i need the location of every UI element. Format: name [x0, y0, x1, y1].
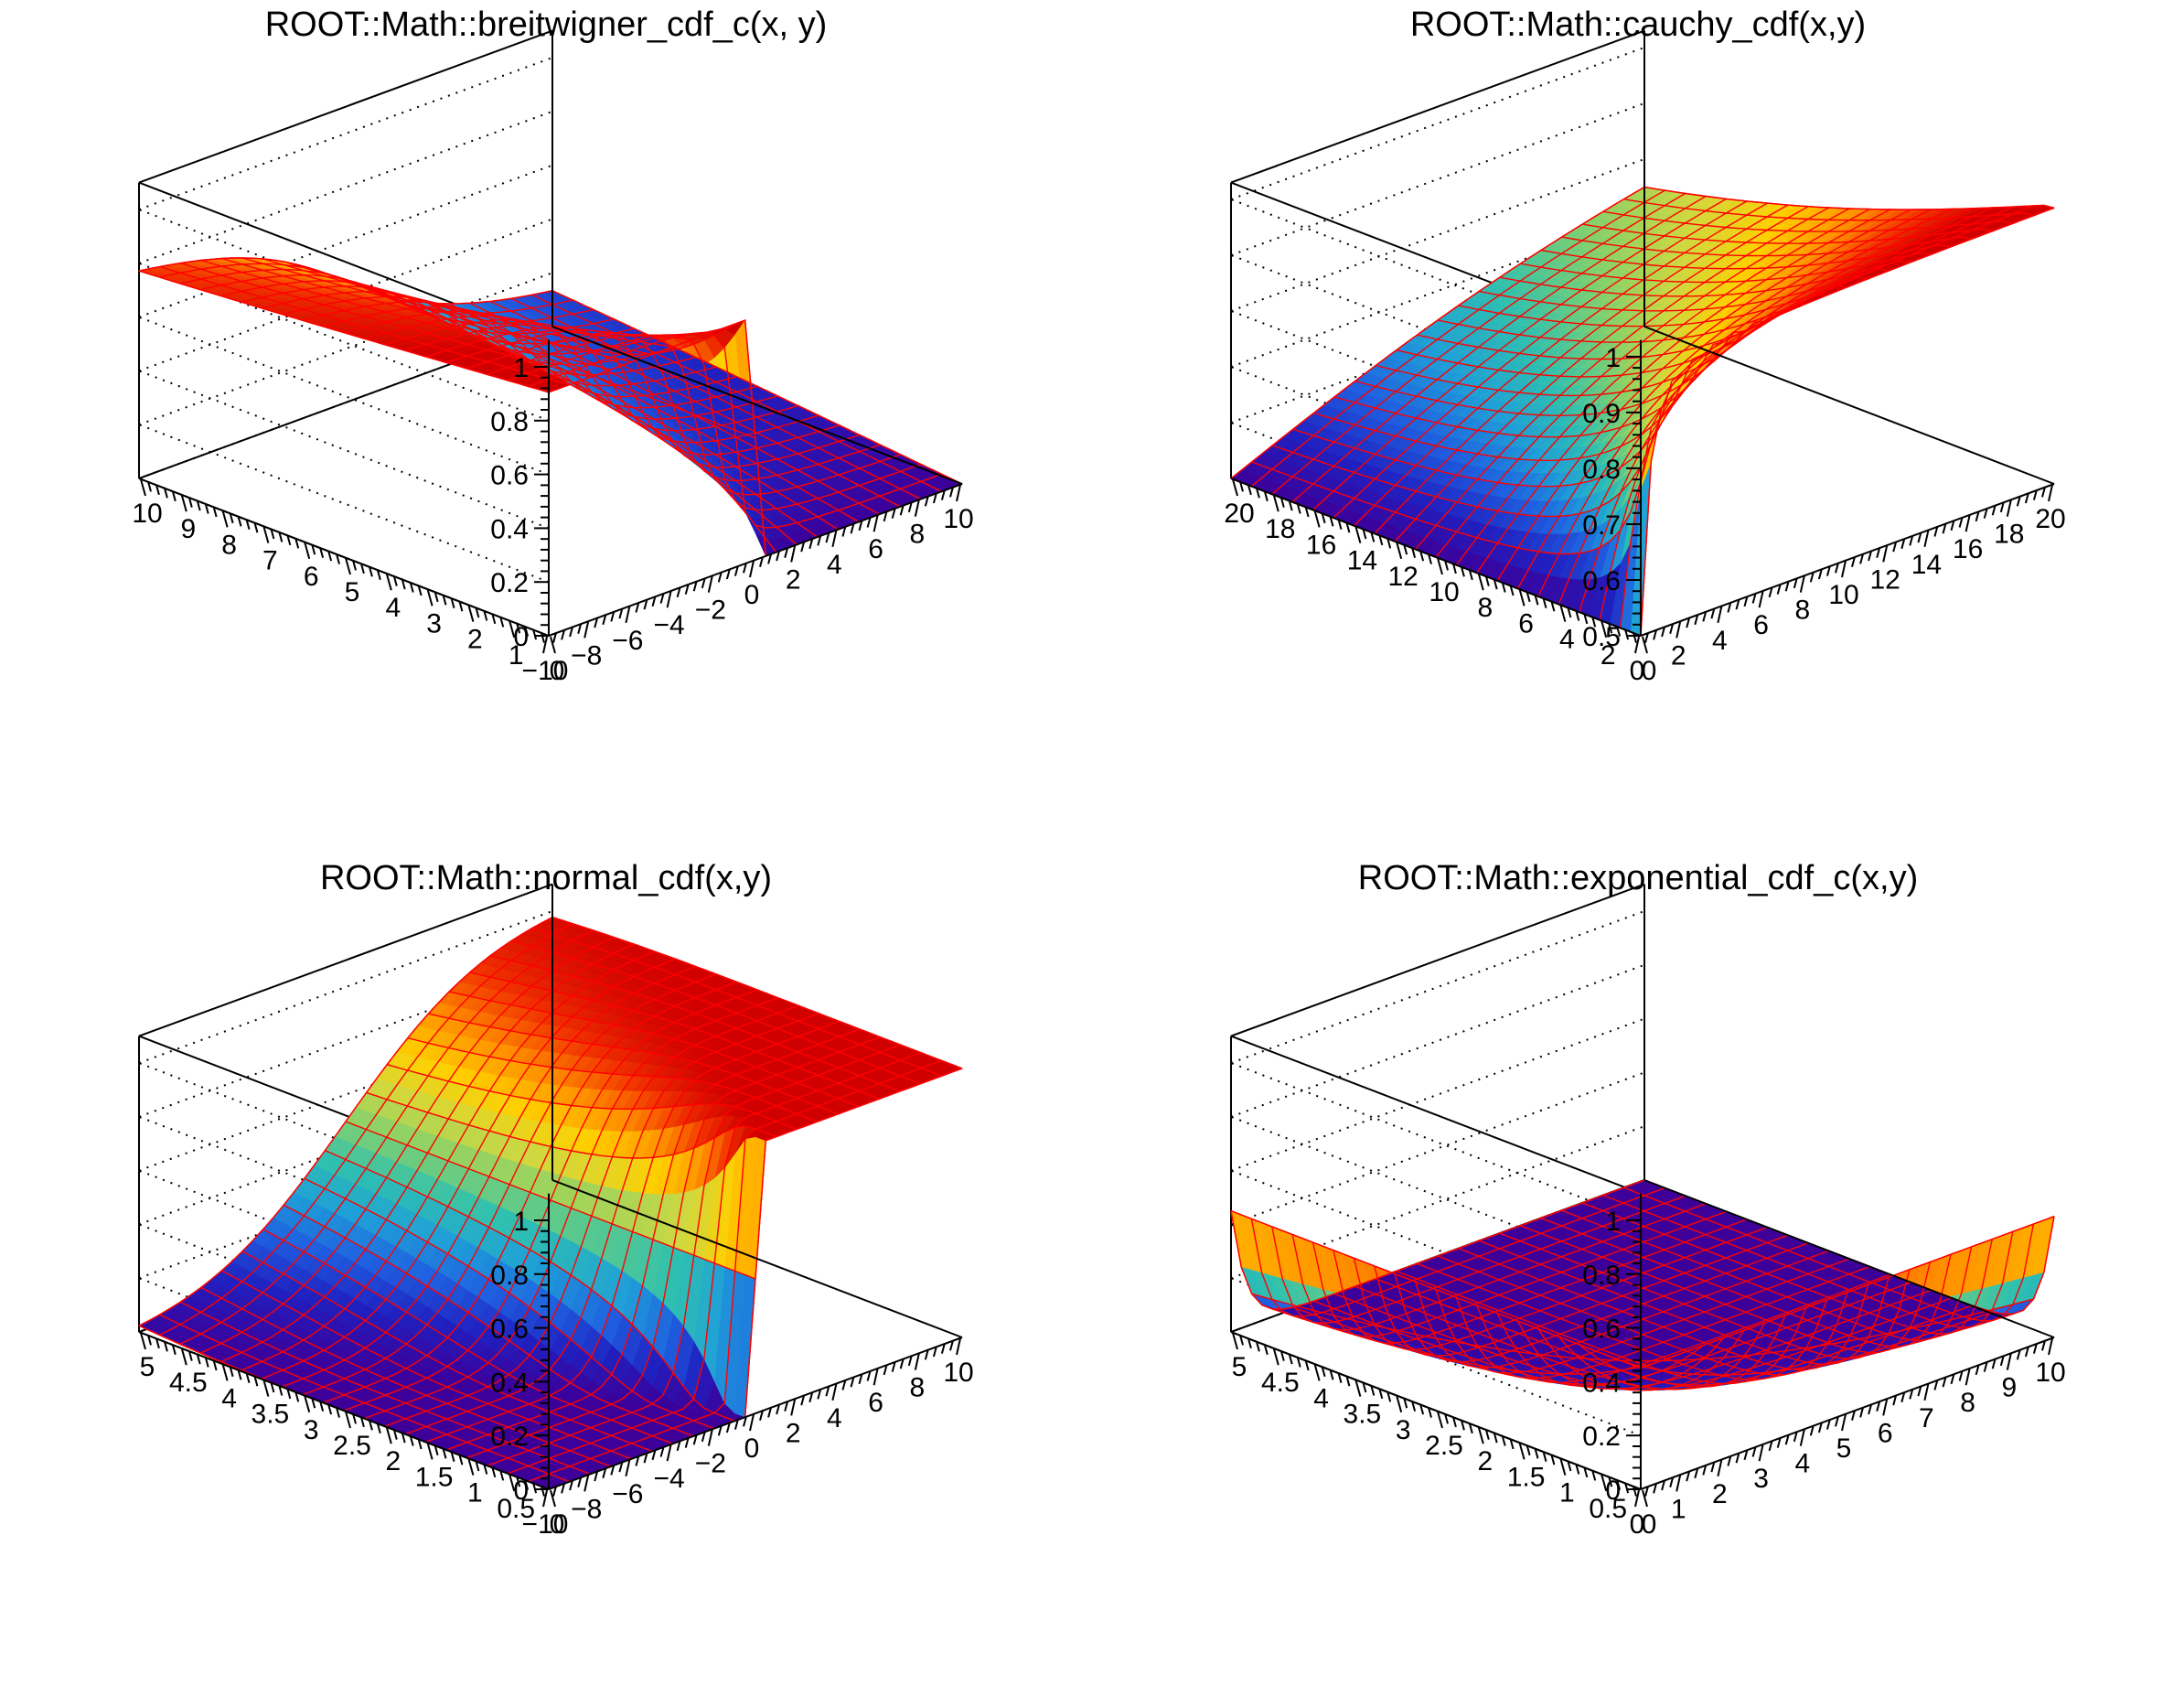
y-axis-tick-label: 0.5	[1589, 1494, 1627, 1524]
y-axis-tick-label: 5	[140, 1352, 155, 1382]
x-axis-tick-label: 10	[2035, 1358, 2065, 1388]
x-axis-tick-label: 6	[1878, 1418, 1893, 1448]
surface-plot-exponential[interactable]: 00.20.40.60.8101234567891000.511.522.533…	[1092, 853, 2184, 1707]
x-axis-tick-label: 18	[1994, 520, 2024, 550]
z-axis-tick-label: 0.4	[1582, 1368, 1621, 1398]
y-axis-tick-label: 0	[1642, 1509, 1657, 1540]
y-axis-tick-label: 4	[1313, 1383, 1329, 1413]
x-axis-tick-label: 0	[744, 580, 760, 610]
pad-title-cauchy: ROOT::Math::cauchy_cdf(x,y)	[1092, 5, 2184, 45]
x-axis-tick-label: 4	[827, 1403, 842, 1433]
x-axis-tick-label: 8	[909, 1373, 925, 1403]
y-axis-tick-label: 1	[1559, 1478, 1575, 1508]
x-axis-tick-label: 16	[1953, 534, 1983, 564]
x-axis-tick-label: 8	[1794, 596, 1810, 626]
y-axis-tick-label: 8	[221, 530, 237, 560]
x-axis-tick-label: −2	[695, 1449, 726, 1479]
x-axis-tick-label: 10	[943, 504, 973, 534]
y-axis-tick-label: 4.5	[1261, 1368, 1300, 1398]
y-axis-tick-label: 2	[467, 625, 483, 655]
z-axis-tick-label: 0.6	[1582, 1315, 1621, 1345]
x-axis-tick-label: 6	[1753, 610, 1769, 640]
z-axis-tick-label: 0.2	[490, 568, 529, 598]
x-axis-tick-label: 2	[1712, 1479, 1728, 1509]
surface-plot-normal[interactable]: 00.20.40.60.81−10−8−6−4−2024681000.511.5…	[0, 853, 1092, 1707]
x-axis-tick-label: 4	[1712, 626, 1728, 656]
x-axis-tick-label: 4	[1794, 1449, 1810, 1479]
x-axis-tick-label: 10	[943, 1358, 973, 1388]
x-axis-tick-label: −8	[571, 640, 602, 671]
x-axis-tick-label: 20	[2035, 504, 2065, 534]
y-axis-tick-label: 0.5	[497, 1494, 535, 1524]
x-axis-tick-label: 3	[1753, 1464, 1769, 1494]
x-axis-tick-label: 8	[1960, 1388, 1975, 1418]
x-axis-tick-label: 9	[2001, 1373, 2017, 1403]
y-axis-tick-label: 1.5	[415, 1462, 454, 1492]
x-axis-tick-label: 4	[827, 550, 842, 580]
x-axis-tick-label: 2	[786, 1418, 801, 1448]
x-axis-tick-label: −2	[695, 596, 726, 626]
y-axis-tick-label: 2.5	[1425, 1431, 1463, 1461]
y-axis-tick-label: 6	[1518, 608, 1534, 639]
y-axis-tick-label: 1.5	[1507, 1462, 1546, 1492]
y-axis-tick-label: 1	[509, 640, 524, 671]
y-axis-tick-label: 3	[1396, 1415, 1411, 1445]
y-axis-tick-label: 4	[221, 1383, 237, 1413]
x-axis-tick-label: 7	[1919, 1403, 1934, 1433]
x-axis-tick-label: 8	[909, 520, 925, 550]
z-axis-tick-label: 0.9	[1582, 399, 1621, 429]
y-axis-tick-label: 2.5	[333, 1431, 371, 1461]
surface-plot-breitwigner[interactable]: 00.20.40.60.81−10−8−6−4−2024681001234567…	[0, 0, 1092, 853]
y-axis-tick-label: 5	[345, 577, 360, 607]
y-axis-tick-label: 14	[1347, 546, 1377, 576]
y-axis-tick-label: 4	[385, 593, 401, 623]
x-axis-tick-label: 0	[744, 1433, 760, 1464]
pad-breitwigner[interactable]: ROOT::Math::breitwigner_cdf_c(x, y) 00.2…	[0, 0, 1092, 853]
pad-title-normal: ROOT::Math::normal_cdf(x,y)	[0, 859, 1092, 898]
x-axis-tick-label: 5	[1836, 1433, 1852, 1464]
pad-exponential[interactable]: ROOT::Math::exponential_cdf_c(x,y) 00.20…	[1092, 853, 2184, 1707]
x-axis-tick-label: 14	[1911, 550, 1942, 580]
z-axis-tick-label: 1	[1605, 1207, 1621, 1237]
y-axis-tick-label: 0	[1642, 656, 1657, 686]
z-axis-tick-label: 1	[513, 353, 529, 383]
y-axis-tick-label: 10	[132, 499, 162, 529]
y-axis-tick-label: 18	[1265, 514, 1295, 544]
pad-normal[interactable]: ROOT::Math::normal_cdf(x,y) 00.20.40.60.…	[0, 853, 1092, 1707]
z-axis-tick-label: 1	[513, 1207, 529, 1237]
y-axis-tick-label: 3.5	[1344, 1400, 1382, 1430]
y-axis-tick-label: 2	[385, 1446, 401, 1476]
z-axis-tick-label: 1	[1605, 343, 1621, 373]
z-axis-tick-label: 0.8	[490, 1261, 529, 1291]
y-axis-tick-label: 3	[304, 1415, 319, 1445]
y-axis-tick-label: 8	[1477, 593, 1493, 623]
x-axis-tick-label: −8	[571, 1494, 602, 1524]
y-axis-tick-label: 0	[550, 656, 565, 686]
y-axis-tick-label: 0	[550, 1509, 565, 1540]
x-axis-tick-label: 2	[786, 564, 801, 595]
y-axis-tick-label: 3	[426, 608, 442, 639]
y-axis-tick-label: 4.5	[169, 1368, 208, 1398]
x-axis-tick-label: −6	[612, 1479, 643, 1509]
x-axis-tick-label: 12	[1870, 564, 1900, 595]
x-axis-tick-label: −4	[653, 1464, 684, 1494]
x-axis-tick-label: 6	[868, 534, 883, 564]
pad-title-exponential: ROOT::Math::exponential_cdf_c(x,y)	[1092, 859, 2184, 898]
x-axis-tick-label: 6	[868, 1388, 883, 1418]
z-axis-tick-label: 0.2	[1582, 1422, 1621, 1452]
y-axis-tick-label: 2	[1601, 640, 1616, 671]
y-axis-tick-label: 6	[304, 562, 319, 592]
y-axis-tick-label: 1	[467, 1478, 483, 1508]
x-axis-tick-label: 1	[1671, 1494, 1686, 1524]
z-axis-tick-label: 0.6	[490, 1315, 529, 1345]
z-axis-tick-label: 0.7	[1582, 510, 1621, 541]
y-axis-tick-label: 5	[1232, 1352, 1247, 1382]
y-axis-tick-label: 2	[1477, 1446, 1493, 1476]
y-axis-tick-label: 3.5	[252, 1400, 290, 1430]
y-axis-tick-label: 12	[1388, 562, 1419, 592]
y-axis-tick-label: 4	[1559, 625, 1575, 655]
y-axis-tick-label: 7	[262, 546, 278, 576]
z-axis-tick-label: 0.8	[1582, 455, 1621, 485]
z-axis-tick-label: 0.2	[490, 1422, 529, 1452]
z-axis-tick-label: 0.8	[490, 407, 529, 437]
z-axis-tick-label: 0.4	[490, 514, 529, 544]
z-axis-tick-label: 0.6	[1582, 566, 1621, 596]
pad-title-breitwigner: ROOT::Math::breitwigner_cdf_c(x, y)	[0, 5, 1092, 45]
z-axis-tick-label: 0.8	[1582, 1261, 1621, 1291]
y-axis-tick-label: 9	[180, 514, 196, 544]
y-axis-tick-label: 20	[1224, 499, 1254, 529]
y-axis-tick-label: 16	[1306, 530, 1336, 560]
z-axis-tick-label: 0.6	[490, 461, 529, 491]
y-axis-tick-label: 10	[1429, 577, 1459, 607]
x-axis-tick-label: −4	[653, 610, 684, 640]
x-axis-tick-label: −6	[612, 626, 643, 656]
surface-plot-cauchy[interactable]: 0.50.60.70.80.91024681012141618200246810…	[1092, 0, 2184, 853]
pad-cauchy[interactable]: ROOT::Math::cauchy_cdf(x,y) 0.50.60.70.8…	[1092, 0, 2184, 853]
x-axis-tick-label: 10	[1828, 580, 1858, 610]
z-axis-tick-label: 0.4	[490, 1368, 529, 1398]
x-axis-tick-label: 2	[1671, 640, 1686, 671]
root-canvas: ROOT::Math::breitwigner_cdf_c(x, y) 00.2…	[0, 0, 2184, 1707]
